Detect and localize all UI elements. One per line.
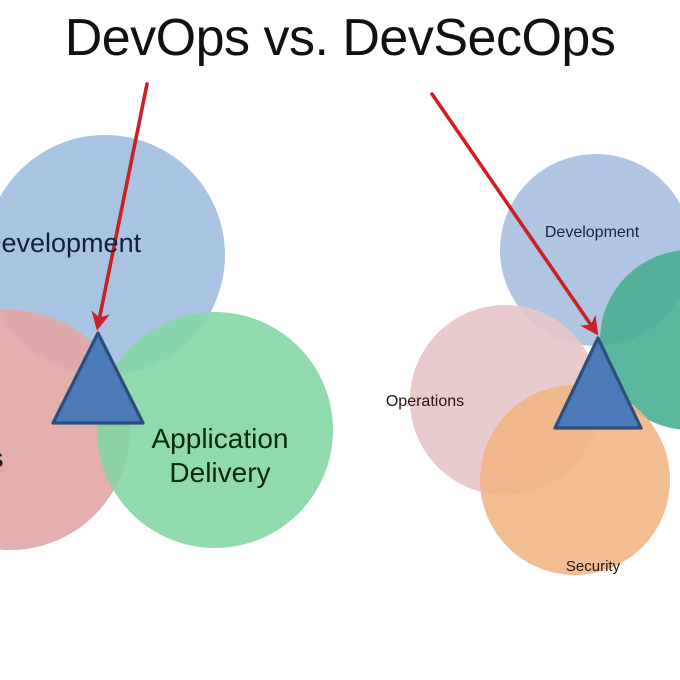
devsecops-venn-group	[407, 94, 680, 578]
devsecops-label-operations: Operations	[370, 393, 480, 411]
devops-label-application-delivery: Application Delivery	[130, 422, 310, 490]
devsecops-label-development: Development	[522, 224, 662, 242]
venn-diagrams	[0, 0, 680, 680]
appdelivery-line-2: Delivery	[169, 457, 270, 488]
slide-canvas: DevOps vs. DevSecOps	[0, 0, 680, 680]
devops-label-operations: ons	[0, 443, 80, 474]
devops-label-development: Development	[0, 228, 202, 259]
appdelivery-line-1: Application	[152, 423, 289, 454]
devsecops-label-security: Security	[538, 558, 648, 575]
